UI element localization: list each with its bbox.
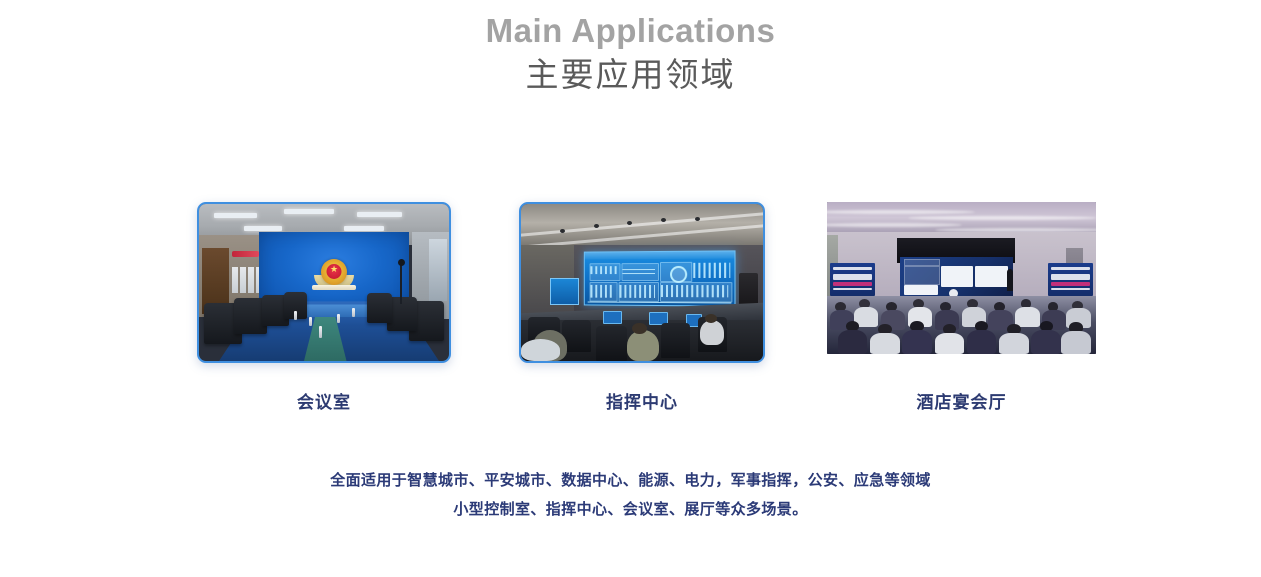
application-card-hotel-banquet-hall[interactable]: 酒店宴会厅	[827, 202, 1096, 354]
card-caption-command-center: 指挥中心	[519, 388, 765, 413]
photo-hotel-banquet-hall[interactable]	[827, 202, 1096, 354]
photo-conference-room[interactable]: ★	[197, 202, 451, 363]
scene-hotel-banquet-hall	[827, 202, 1096, 354]
page-title-english: Main Applications	[0, 10, 1261, 52]
footer-line-1: 全面适用于智慧城市、平安城市、数据中心、能源、电力，军事指挥，公安、应急等领域	[0, 466, 1261, 495]
application-card-conference-room[interactable]: ★	[197, 202, 451, 363]
application-card-command-center[interactable]: 指挥中心	[519, 202, 765, 363]
application-cards: ★	[0, 202, 1261, 422]
footer-line-2: 小型控制室、指挥中心、会议室、展厅等众多场景。	[0, 495, 1261, 524]
footer-description: 全面适用于智慧城市、平安城市、数据中心、能源、电力，军事指挥，公安、应急等领域 …	[0, 466, 1261, 524]
card-caption-hotel-banquet-hall: 酒店宴会厅	[827, 388, 1096, 413]
scene-conference-room: ★	[199, 204, 449, 361]
page-title-chinese: 主要应用领域	[0, 52, 1261, 98]
page-header: Main Applications 主要应用领域	[0, 0, 1261, 98]
photo-command-center[interactable]	[519, 202, 765, 363]
card-caption-conference-room: 会议室	[197, 388, 451, 413]
scene-command-center	[521, 204, 763, 361]
